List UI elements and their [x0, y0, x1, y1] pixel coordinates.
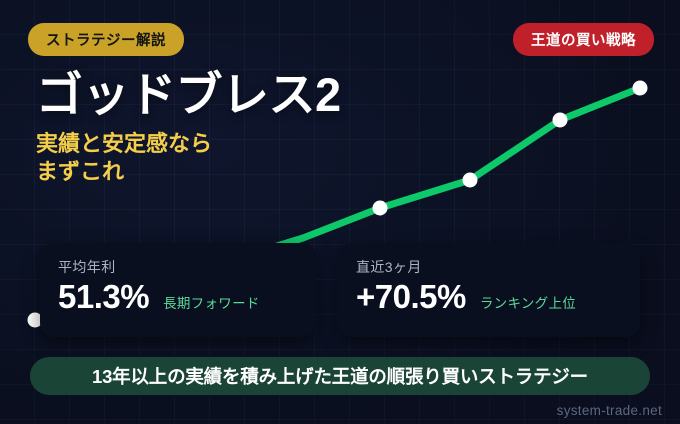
chart-data-point	[373, 201, 388, 216]
site-watermark: system-trade.net	[557, 403, 662, 418]
stat-card-tag: ランキング上位	[480, 292, 576, 312]
badge-royal-buy-strategy[interactable]: 王道の買い戦略	[513, 23, 654, 56]
chart-data-point	[633, 81, 648, 96]
stat-card-tag: 長期フォワード	[163, 292, 260, 312]
headline-block: ゴッドブレス2 実績と安定感なら まずこれ	[36, 68, 366, 187]
stat-card-last-three-months: 直近3ヶ月 +70.5% ランキング上位	[338, 243, 640, 337]
stat-card-label: 平均年利	[58, 257, 298, 277]
badge-strategy-label: ストラテジー解説	[46, 29, 166, 50]
badge-strategy-explainer[interactable]: ストラテジー解説	[28, 23, 184, 56]
promo-banner-stage: ストラテジー解説 王道の買い戦略 ゴッドブレス2 実績と安定感なら まずこれ 平…	[0, 0, 680, 424]
stat-card-value: +70.5%	[356, 279, 466, 315]
stat-card-average-annual-yield: 平均年利 51.3% 長期フォワード	[40, 243, 316, 337]
stat-card-row: +70.5% ランキング上位	[356, 279, 622, 315]
bottom-tagline-banner: 13年以上の実績を積み上げた王道の順張り買いストラテジー	[30, 357, 650, 395]
page-subtitle: 実績と安定感なら まずこれ	[36, 130, 366, 187]
badge-royal-label: 王道の買い戦略	[531, 29, 636, 50]
stat-card-row: 51.3% 長期フォワード	[58, 279, 298, 315]
page-title: ゴッドブレス2	[36, 68, 366, 122]
bottom-tagline-text: 13年以上の実績を積み上げた王道の順張り買いストラテジー	[92, 363, 588, 389]
stat-card-label: 直近3ヶ月	[356, 257, 622, 277]
chart-data-point	[553, 113, 568, 128]
stat-card-value: 51.3%	[58, 279, 149, 315]
chart-data-point	[463, 173, 478, 188]
